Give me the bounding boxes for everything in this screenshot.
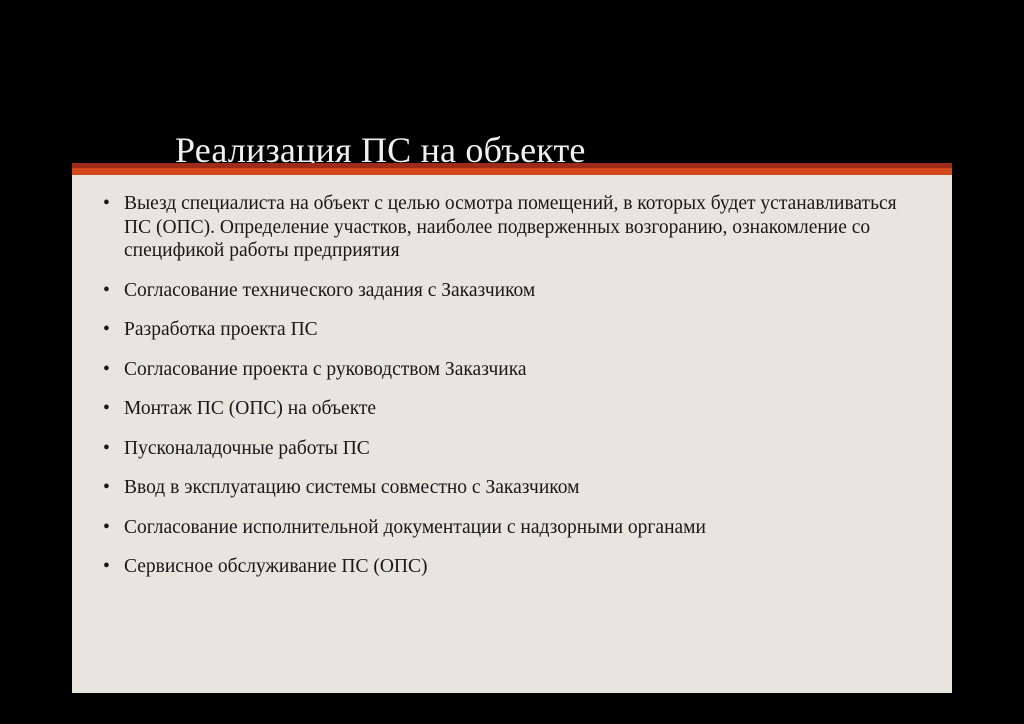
list-item-label: Ввод в эксплуатацию системы совместно с …	[124, 476, 844, 500]
list-item: • Сервисное обслуживание ПС (ОПС)	[100, 555, 936, 579]
accent-divider-bar	[72, 163, 952, 175]
bullet-marker-icon: •	[103, 476, 117, 500]
bullet-marker-icon: •	[103, 358, 117, 382]
list-item: • Согласование исполнительной документац…	[100, 516, 936, 540]
presentation-slide: Реализация ПС на объекте • Выезд специал…	[0, 0, 1024, 724]
content-panel: • Выезд специалиста на объект с целью ос…	[72, 175, 952, 693]
list-item: • Ввод в эксплуатацию системы совместно …	[100, 476, 936, 500]
bullet-marker-icon: •	[103, 437, 117, 461]
bullet-list: • Выезд специалиста на объект с целью ос…	[100, 192, 936, 579]
list-item-label: Согласование технического задания с Зака…	[124, 279, 844, 303]
list-item: • Согласование проекта с руководством За…	[100, 358, 936, 382]
bullet-marker-icon: •	[103, 397, 117, 421]
list-item-label: Согласование исполнительной документации…	[124, 516, 844, 540]
list-item-label: Разработка проекта ПС	[124, 318, 844, 342]
list-item: • Согласование технического задания с За…	[100, 279, 936, 303]
list-item-label: Выезд специалиста на объект с целью осмо…	[124, 192, 914, 263]
list-item-label: Сервисное обслуживание ПС (ОПС)	[124, 555, 844, 579]
bullet-marker-icon: •	[103, 516, 117, 540]
bullet-marker-icon: •	[103, 192, 117, 216]
list-item: • Разработка проекта ПС	[100, 318, 936, 342]
list-item-label: Монтаж ПС (ОПС) на объекте	[124, 397, 844, 421]
bullet-marker-icon: •	[103, 555, 117, 579]
list-item: • Пусконаладочные работы ПС	[100, 437, 936, 461]
list-item: • Монтаж ПС (ОПС) на объекте	[100, 397, 936, 421]
list-item-label: Пусконаладочные работы ПС	[124, 437, 844, 461]
list-item: • Выезд специалиста на объект с целью ос…	[100, 192, 936, 263]
list-item-label: Согласование проекта с руководством Зака…	[124, 358, 844, 382]
bullet-marker-icon: •	[103, 318, 117, 342]
bullet-marker-icon: •	[103, 279, 117, 303]
accent-band-bright	[72, 168, 952, 175]
